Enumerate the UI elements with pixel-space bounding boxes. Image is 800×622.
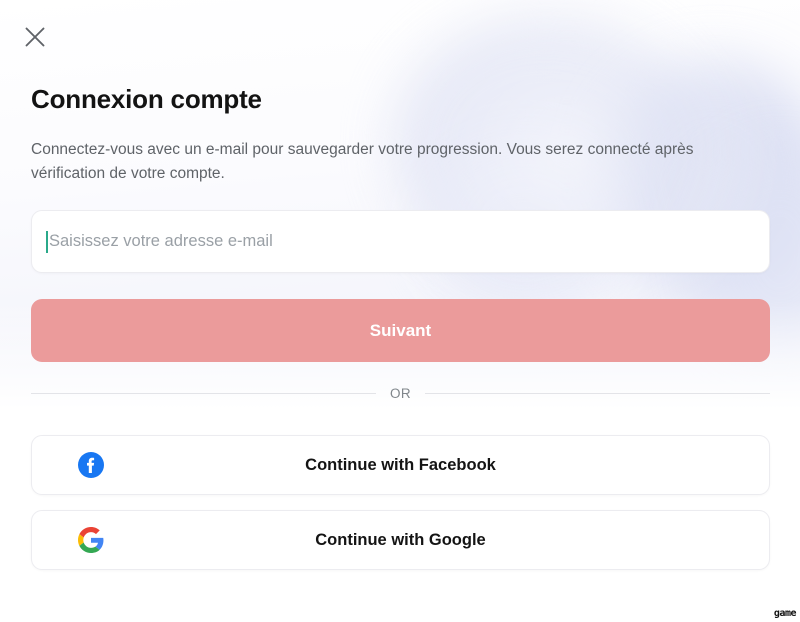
continue-with-facebook-button[interactable]: Continue with Facebook	[31, 435, 770, 495]
divider-rule-right	[425, 393, 770, 394]
divider: OR	[31, 386, 770, 401]
continue-with-google-button[interactable]: Continue with Google	[31, 510, 770, 570]
submit-button[interactable]: Suivant	[31, 299, 770, 362]
close-button[interactable]	[20, 22, 50, 52]
email-field[interactable]	[31, 210, 770, 273]
divider-label: OR	[390, 386, 411, 401]
google-icon	[76, 525, 106, 555]
facebook-button-label: Continue with Facebook	[32, 456, 769, 475]
email-input[interactable]	[48, 211, 738, 272]
login-dialog: Connexion compte Connectez-vous avec un …	[0, 0, 800, 622]
page-title: Connexion compte	[31, 84, 262, 115]
facebook-icon	[76, 450, 106, 480]
close-x-icon	[24, 26, 46, 48]
divider-rule-left	[31, 393, 376, 394]
dialog-description: Connectez-vous avec un e-mail pour sauve…	[31, 138, 703, 186]
google-button-label: Continue with Google	[32, 531, 769, 550]
watermark: game	[774, 608, 796, 619]
